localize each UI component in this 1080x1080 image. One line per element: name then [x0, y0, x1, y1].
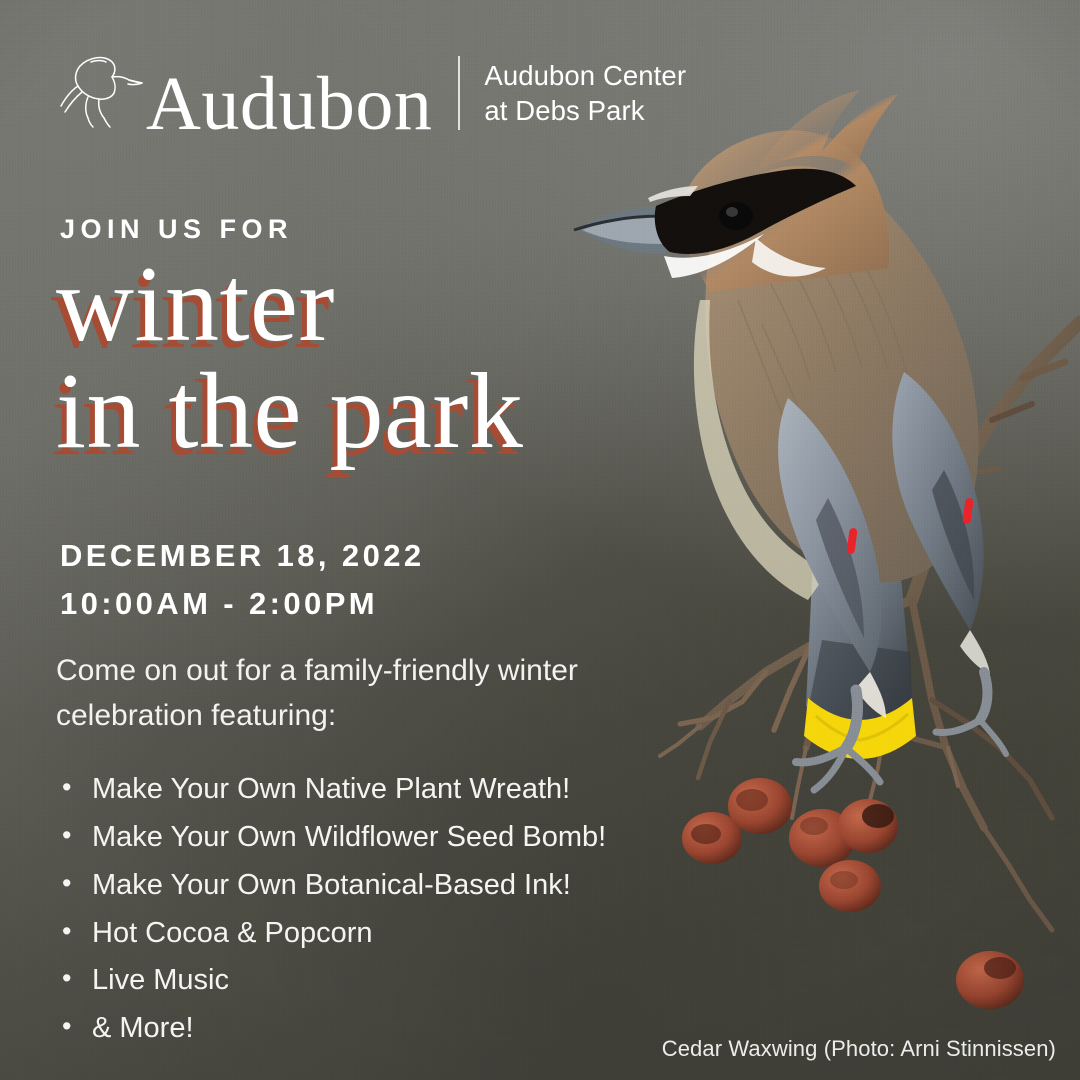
poster-canvas: Audubon Audubon Center at Debs Park JOIN… [0, 0, 1080, 1080]
kicker-text: JOIN US FOR [60, 214, 293, 245]
logo-divider [458, 56, 460, 130]
event-date: DECEMBER 18, 2022 [60, 532, 425, 580]
center-name: Audubon Center at Debs Park [484, 58, 686, 128]
headline-line-2: in the park [56, 359, 523, 466]
list-item: & More! [56, 1005, 716, 1053]
flying-egret-icon [58, 52, 144, 130]
audubon-wordmark: Audubon [146, 70, 432, 140]
event-time: 10:00AM - 2:00PM [60, 580, 425, 628]
photo-credit: Cedar Waxwing (Photo: Arni Stinnissen) [662, 1036, 1056, 1062]
list-item: Hot Cocoa & Popcorn [56, 910, 716, 958]
list-item: Make Your Own Botanical-Based Ink! [56, 862, 716, 910]
list-item: Make Your Own Wildflower Seed Bomb! [56, 814, 716, 862]
audubon-logo[interactable]: Audubon Audubon Center at Debs Park [58, 52, 686, 136]
list-item: Live Music [56, 957, 716, 1005]
list-item: Make Your Own Native Plant Wreath! [56, 766, 716, 814]
event-datetime: DECEMBER 18, 2022 10:00AM - 2:00PM [60, 532, 425, 629]
activities-list: Make Your Own Native Plant Wreath! Make … [56, 766, 716, 1053]
page-title: winter in the park [56, 252, 523, 466]
intro-text: Come on out for a family-friendly winter… [56, 648, 716, 738]
headline-line-1: winter [56, 245, 335, 364]
